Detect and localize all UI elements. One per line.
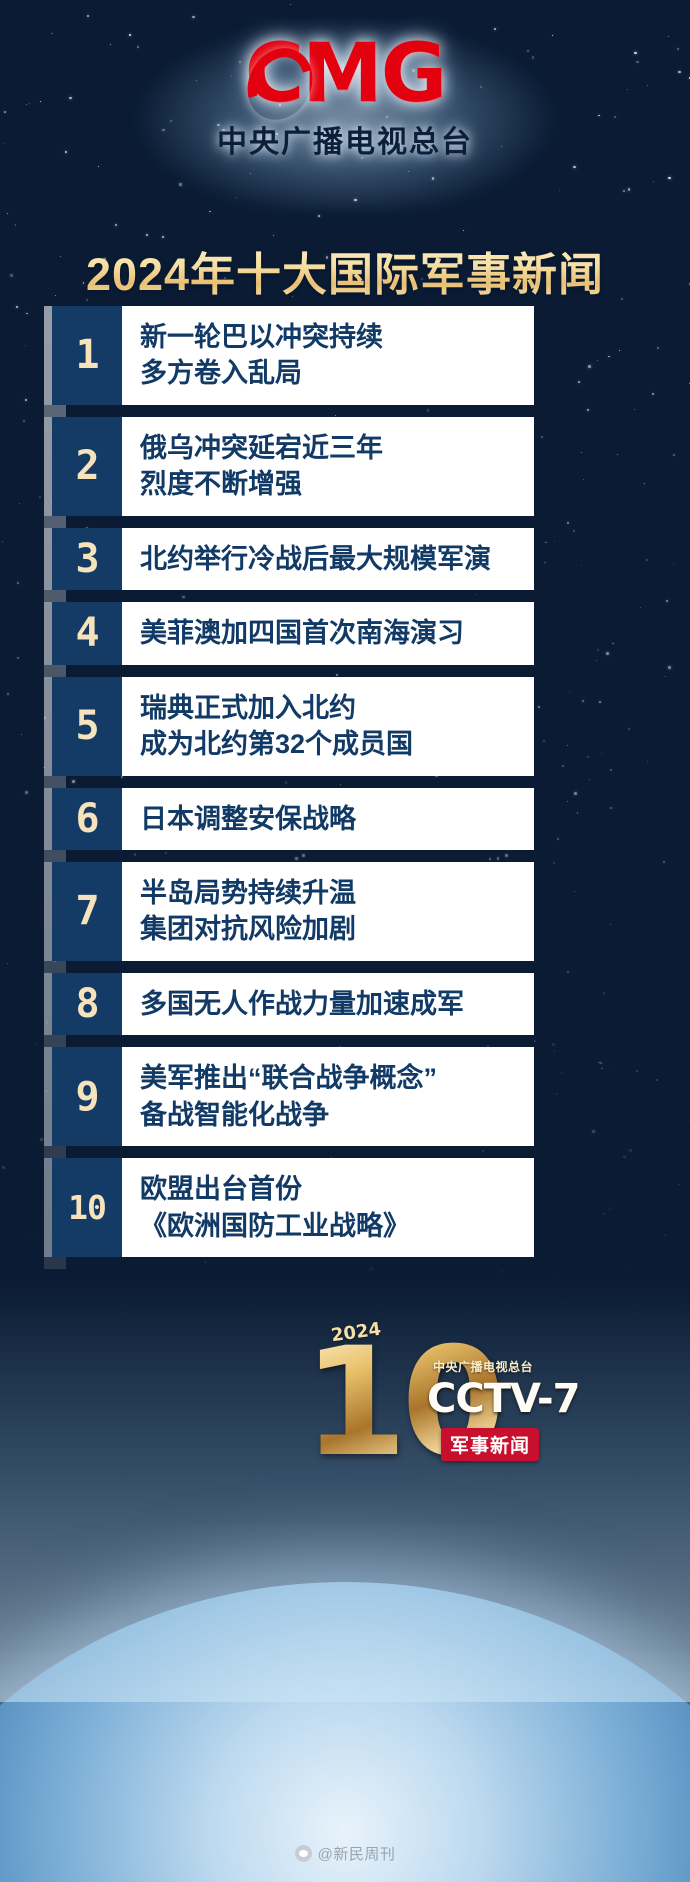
list-item-rank: 8 — [52, 973, 122, 1035]
list-item-headline-line: 欧盟出台首份 — [140, 1171, 524, 1207]
list-item[interactable]: 8多国无人作战力量加速成军 — [44, 973, 534, 1035]
list-item[interactable]: 3北约举行冷战后最大规模军演 — [44, 528, 534, 590]
watermark-text: @新民周刊 — [318, 1843, 396, 1864]
list-item-headline: 美菲澳加四国首次南海演习 — [122, 602, 534, 664]
list-item[interactable]: 2俄乌冲突延宕近三年烈度不断增强 — [44, 417, 534, 516]
list-item-headline-line: 多国无人作战力量加速成军 — [140, 986, 524, 1022]
list-item-headline: 北约举行冷战后最大规模军演 — [122, 528, 534, 590]
list-item-headline-line: 集团对抗风险加剧 — [140, 911, 524, 947]
list-item-headline: 半岛局势持续升温集团对抗风险加剧 — [122, 862, 534, 961]
list-item-headline-line: 瑞典正式加入北约 — [140, 690, 524, 726]
list-item-headline-line: 《欧洲国防工业战略》 — [140, 1208, 524, 1244]
list-item-headline: 俄乌冲突延宕近三年烈度不断增强 — [122, 417, 534, 516]
list-item[interactable]: 5瑞典正式加入北约成为北约第32个成员国 — [44, 677, 534, 776]
list-item-rank: 1 — [52, 306, 122, 405]
list-item-rank: 7 — [52, 862, 122, 961]
list-item-headline-line: 半岛局势持续升温 — [140, 875, 524, 911]
list-item-headline: 新一轮巴以冲突持续多方卷入乱局 — [122, 306, 534, 405]
list-item-headline-line: 备战智能化战争 — [140, 1097, 524, 1133]
page-title: 2024年十大国际军事新闻 — [0, 238, 690, 303]
watermark: @新民周刊 — [0, 1843, 690, 1864]
list-item-headline: 美军推出“联合战争概念”备战智能化战争 — [122, 1047, 534, 1146]
list-item-headline-line: 美菲澳加四国首次南海演习 — [140, 615, 524, 651]
list-item-headline-line: 烈度不断增强 — [140, 466, 524, 502]
list-item-rank: 5 — [52, 677, 122, 776]
list-item[interactable]: 7半岛局势持续升温集团对抗风险加剧 — [44, 862, 534, 961]
list-item-rank: 4 — [52, 602, 122, 664]
list-item[interactable]: 1新一轮巴以冲突持续多方卷入乱局 — [44, 306, 534, 405]
list-item-rank: 2 — [52, 417, 122, 516]
list-item-rank: 10 — [52, 1158, 122, 1257]
list-item-headline-line: 新一轮巴以冲突持续 — [140, 319, 524, 355]
list-item-headline-line: 俄乌冲突延宕近三年 — [140, 430, 524, 466]
list-item-headline: 欧盟出台首份《欧洲国防工业战略》 — [122, 1158, 534, 1257]
list-item[interactable]: 6日本调整安保战略 — [44, 788, 534, 850]
list-item[interactable]: 10欧盟出台首份《欧洲国防工业战略》 — [44, 1158, 534, 1257]
poster-root: CMG 中央广播电视总台 2024年十大国际军事新闻 1新一轮巴以冲突持续多方卷… — [0, 0, 690, 1882]
list-item-headline: 瑞典正式加入北约成为北约第32个成员国 — [122, 677, 534, 776]
cmg-wordmark: CMG — [245, 34, 446, 115]
list-item-headline: 多国无人作战力量加速成军 — [122, 973, 534, 1035]
list-item-rank: 3 — [52, 528, 122, 590]
cmg-logo-block: CMG 中央广播电视总台 — [0, 34, 690, 161]
cctv7-emblem: 10 2024 中央广播电视总台 CCTV-7 军事新闻 — [0, 1290, 690, 1540]
news-ranking-list: 1新一轮巴以冲突持续多方卷入乱局2俄乌冲突延宕近三年烈度不断增强3北约举行冷战后… — [44, 306, 534, 1269]
weibo-eye-icon — [295, 1845, 312, 1862]
list-item-headline: 日本调整安保战略 — [122, 788, 534, 850]
list-item-rank: 9 — [52, 1047, 122, 1146]
earth-globe-decoration — [0, 1582, 690, 1882]
cmg-logo-subtitle: 中央广播电视总台 — [0, 117, 690, 161]
list-item[interactable]: 4美菲澳加四国首次南海演习 — [44, 602, 534, 664]
list-item-headline-line: 多方卷入乱局 — [140, 355, 524, 391]
list-item-headline-line: 成为北约第32个成员国 — [140, 726, 524, 762]
list-item[interactable]: 9美军推出“联合战争概念”备战智能化战争 — [44, 1047, 534, 1146]
list-item-headline-line: 美军推出“联合战争概念” — [140, 1060, 524, 1096]
emblem-channel: CCTV-7 — [427, 1376, 579, 1422]
list-item-rank: 6 — [52, 788, 122, 850]
list-item-headline-line: 日本调整安保战略 — [140, 801, 524, 837]
emblem-badge: 军事新闻 — [441, 1428, 539, 1461]
emblem-cmg-line: 中央广播电视总台 — [433, 1358, 533, 1375]
list-item-headline-line: 北约举行冷战后最大规模军演 — [140, 541, 524, 577]
